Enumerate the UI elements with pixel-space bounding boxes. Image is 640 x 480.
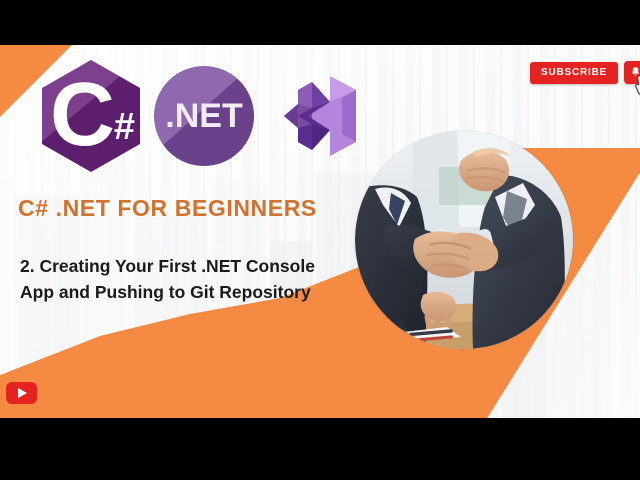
- youtube-logo[interactable]: [6, 382, 37, 404]
- episode-subtitle: 2. Creating Your First .NET Console App …: [20, 253, 350, 305]
- csharp-letter: C: [50, 74, 120, 158]
- play-icon: [18, 388, 27, 398]
- technology-logo-row: C # .NET: [42, 60, 364, 172]
- visual-studio-infinity-icon: [268, 68, 364, 164]
- subscribe-cluster[interactable]: SUBSCRIBE: [530, 61, 640, 84]
- csharp-logo: C #: [42, 60, 140, 172]
- thumbnail-frame: C # .NET: [0, 45, 640, 418]
- handshake-illustration: [355, 131, 573, 349]
- subscribe-button[interactable]: SUBSCRIBE: [530, 62, 618, 84]
- notification-bell-button[interactable]: [624, 61, 640, 84]
- page-title: C# .NET FOR BEGINNERS: [18, 195, 317, 222]
- dotnet-logo-label: .NET: [165, 97, 242, 136]
- csharp-sharp-symbol: #: [114, 108, 135, 146]
- handshake-photo: [355, 131, 573, 349]
- visual-studio-logo: [268, 68, 364, 164]
- dotnet-logo: .NET: [154, 66, 254, 166]
- hand-cursor-icon: [632, 73, 640, 99]
- video-thumbnail: C # .NET: [0, 0, 640, 480]
